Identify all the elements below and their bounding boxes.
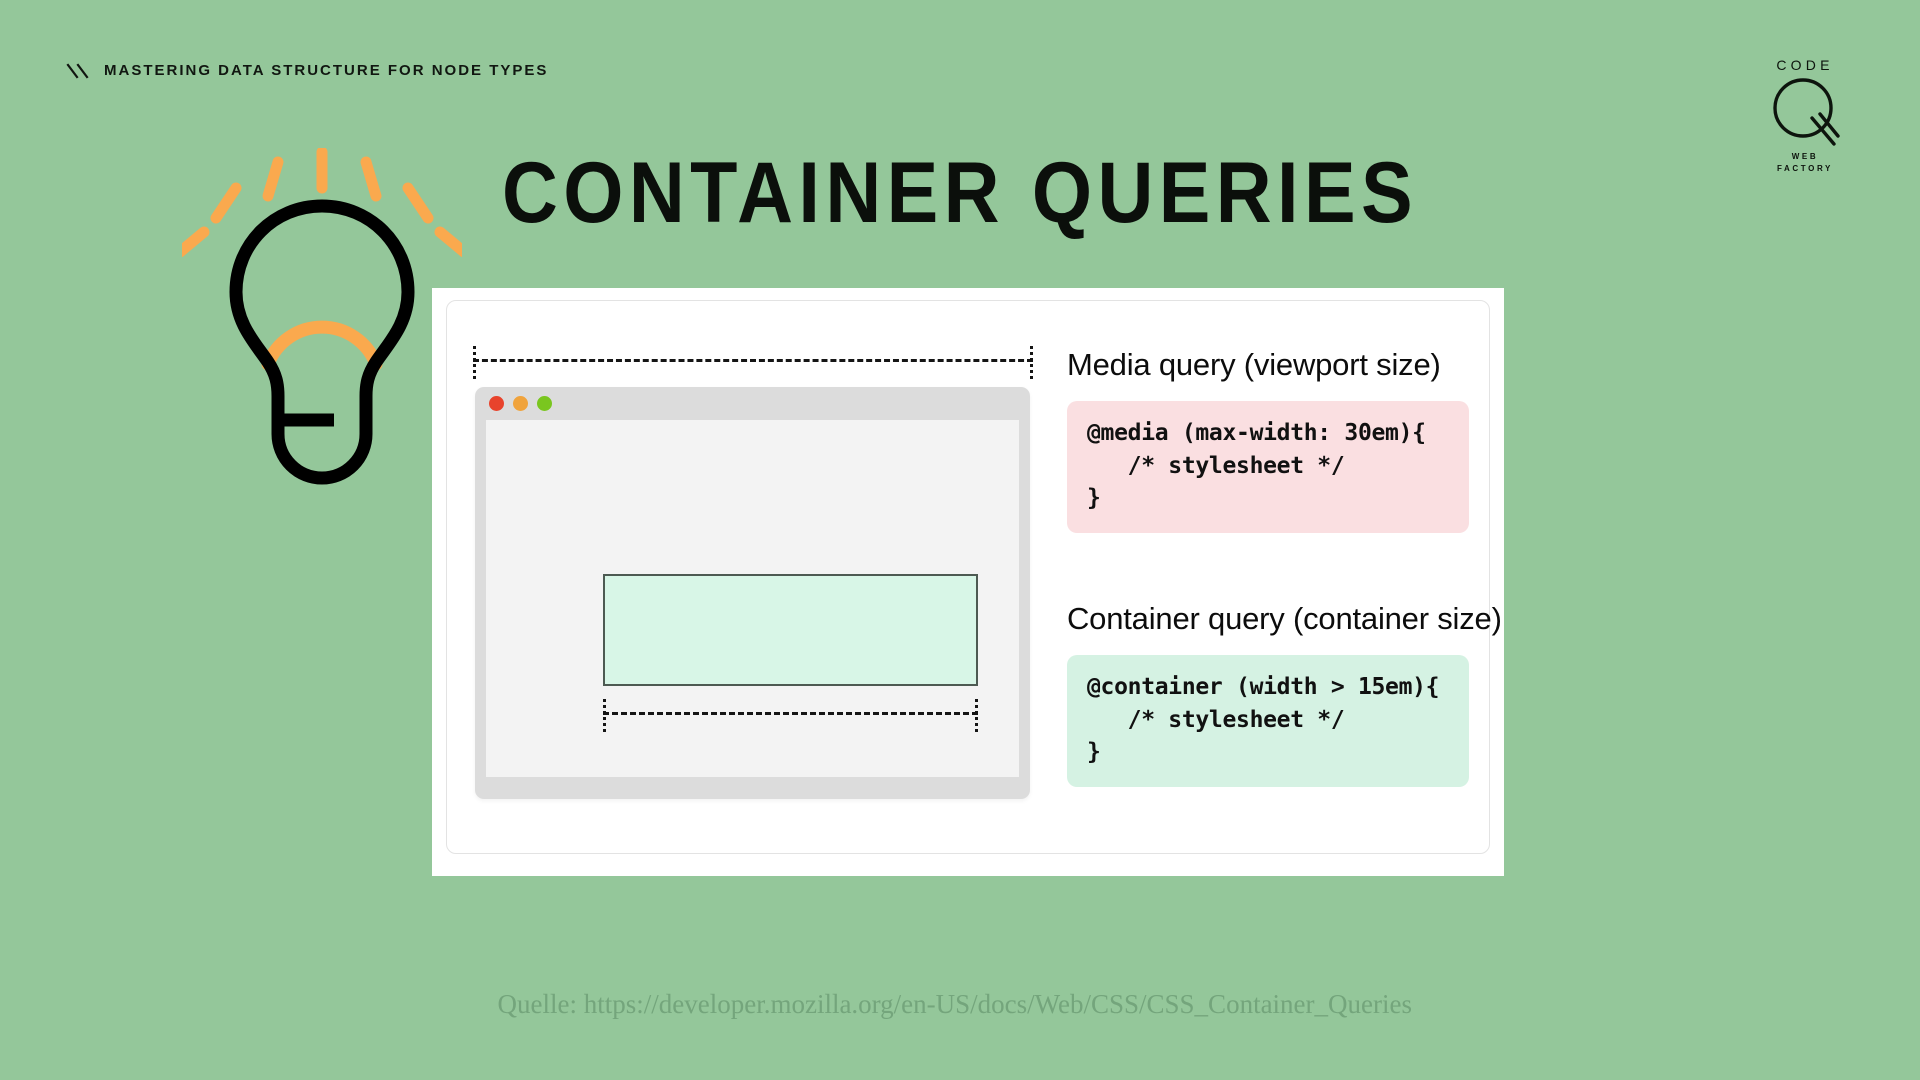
lightbulb-inner-arc [268, 327, 376, 364]
q-circle-icon [1768, 74, 1842, 148]
browser-window-mockup [475, 387, 1030, 799]
media-query-code: @media (max-width: 30em){ /* stylesheet … [1067, 401, 1469, 533]
container-query-group: Container query (container size) @contai… [1067, 601, 1469, 787]
measure-tick-left [473, 346, 476, 379]
container-measure-tick-right [975, 699, 978, 732]
logo-top-text: CODE [1776, 58, 1833, 72]
eyebrow-text: MASTERING DATA STRUCTURE FOR NODE TYPES [104, 62, 548, 79]
slide-root: MASTERING DATA STRUCTURE FOR NODE TYPES … [0, 0, 1920, 1080]
container-query-code: @container (width > 15em){ /* stylesheet… [1067, 655, 1469, 787]
container-width-measure [603, 712, 978, 716]
diagram-panel: Media query (viewport size) @media (max-… [432, 288, 1504, 876]
container-element-box [603, 574, 978, 686]
lightbulb-icon [182, 148, 462, 508]
container-query-label: Container query (container size) [1067, 601, 1469, 637]
double-slash-icon [66, 63, 92, 79]
query-explanations: Media query (viewport size) @media (max-… [1067, 347, 1469, 787]
minimize-dot[interactable] [513, 396, 528, 411]
close-dot[interactable] [489, 396, 504, 411]
browser-viewport [486, 420, 1019, 777]
source-citation: Quelle: https://developer.mozilla.org/en… [498, 989, 1412, 1020]
container-measure-tick-left [603, 699, 606, 732]
measure-tick-right [1030, 346, 1033, 379]
eyebrow: MASTERING DATA STRUCTURE FOR NODE TYPES [66, 62, 548, 79]
maximize-dot[interactable] [537, 396, 552, 411]
browser-titlebar [475, 387, 1030, 420]
media-query-label: Media query (viewport size) [1067, 347, 1469, 383]
viewport-width-measure [473, 359, 1033, 363]
lightbulb-glass-outline [236, 206, 408, 478]
diagram-card: Media query (viewport size) @media (max-… [446, 300, 1490, 854]
